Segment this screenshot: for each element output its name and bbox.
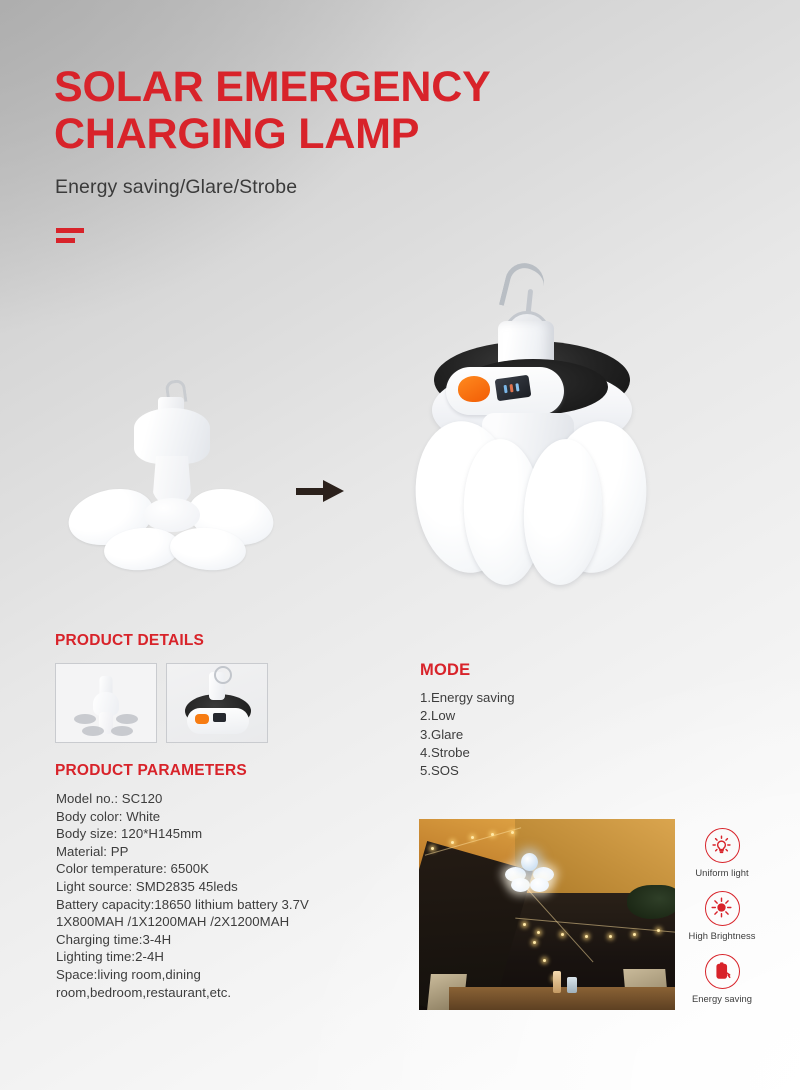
sun-brightness-icon — [705, 891, 740, 926]
feature-energy-saving: Energy saving — [681, 954, 763, 1004]
feature-uniform-light: Uniform light — [681, 828, 763, 878]
arrow-right-icon — [296, 480, 344, 502]
string-light-bulb — [561, 933, 564, 936]
accent-bar-bottom — [56, 238, 75, 243]
foliage — [627, 885, 675, 919]
string-light-bulb — [511, 831, 514, 834]
string-light-bulb — [609, 935, 612, 938]
parameter-line: Space:living room,dining — [56, 966, 396, 984]
scene-lamp-bulb — [521, 853, 538, 871]
parameter-line: Model no.: SC120 — [56, 790, 396, 808]
title-line-2: CHARGING LAMP — [54, 111, 614, 158]
lamp-in-scene — [505, 853, 553, 895]
string-light-bulb — [657, 929, 660, 932]
parameter-line: 1X800MAH /1X1200MAH /2X1200MAH — [56, 913, 396, 931]
detail-thumbnail[interactable] — [55, 663, 157, 743]
page-subtitle: Energy saving/Glare/Strobe — [55, 176, 297, 199]
string-light-bulb — [537, 931, 540, 934]
thumb-petal — [116, 714, 138, 724]
scene-lamp-petal — [511, 878, 530, 892]
arrow-head — [323, 480, 344, 502]
display-screen — [495, 375, 532, 402]
thumb-petal — [74, 714, 96, 724]
mode-item: 2.Low — [420, 707, 515, 725]
lamp-body — [134, 408, 210, 464]
parameter-line: room,bedroom,restaurant,etc. — [56, 984, 396, 1002]
arrow-shaft — [296, 488, 326, 495]
cup — [567, 977, 577, 993]
page-title: SOLAR EMERGENCY CHARGING LAMP — [54, 64, 614, 158]
string-light-bulb — [431, 847, 434, 850]
mode-item: 4.Strobe — [420, 744, 515, 762]
parameter-line: Lighting time:2-4H — [56, 948, 396, 966]
mode-list: 1.Energy saving 2.Low 3.Glare 4.Strobe 5… — [420, 689, 515, 780]
battery-charge-icon — [705, 954, 740, 989]
product-parameters-list: Model no.: SC120 Body color: White Body … — [56, 790, 396, 1001]
thumb-hook-icon — [214, 666, 232, 684]
parameter-line: Color temperature: 6500K — [56, 860, 396, 878]
accent-bar-top — [56, 228, 84, 233]
product-page: SOLAR EMERGENCY CHARGING LAMP Energy sav… — [0, 0, 800, 1090]
parameter-line: Light source: SMD2835 45leds — [56, 878, 396, 896]
parameter-line: Charging time:3-4H — [56, 931, 396, 949]
mode-item: 5.SOS — [420, 762, 515, 780]
string-light-bulb — [543, 959, 546, 962]
mode-heading: MODE — [420, 661, 470, 680]
light-bulb-icon — [705, 828, 740, 863]
lamp-hub — [144, 498, 200, 532]
detail-thumbnail[interactable] — [166, 663, 268, 743]
thumb-petal — [82, 726, 104, 736]
title-line-1: SOLAR EMERGENCY — [54, 63, 491, 111]
string-light-bulb — [585, 935, 588, 938]
orange-button — [458, 376, 490, 402]
string-light-bulb — [451, 841, 454, 844]
string-light-bulb — [633, 933, 636, 936]
table — [449, 987, 675, 1010]
hanging-hook-icon — [499, 259, 548, 314]
string-light-bulb — [523, 923, 526, 926]
thumb-display-screen — [213, 713, 226, 722]
parameter-line: Body color: White — [56, 808, 396, 826]
thumb-petal — [111, 726, 133, 736]
bottle — [553, 971, 561, 993]
feature-icon-list: Uniform light High Brightness Energy sav… — [681, 828, 763, 1017]
product-details-heading: PRODUCT DETAILS — [55, 632, 204, 650]
parameter-line: Battery capacity:18650 lithium battery 3… — [56, 896, 396, 914]
lifestyle-photo — [419, 819, 675, 1010]
accent-divider — [56, 228, 96, 243]
string-light-bulb — [471, 836, 474, 839]
feature-label: Energy saving — [681, 993, 763, 1004]
feature-high-brightness: High Brightness — [681, 891, 763, 941]
parameter-line: Material: PP — [56, 843, 396, 861]
product-parameters-heading: PRODUCT PARAMETERS — [55, 762, 247, 780]
feature-label: High Brightness — [681, 930, 763, 941]
string-light-bulb — [491, 833, 494, 836]
folded-lamp-image — [398, 263, 666, 593]
scene-lamp-petal — [530, 878, 549, 892]
mode-item: 3.Glare — [420, 726, 515, 744]
product-details-thumbnails — [55, 663, 268, 743]
string-light-bulb — [533, 941, 536, 944]
hero-section — [0, 255, 800, 605]
parameter-line: Body size: 120*H145mm — [56, 825, 396, 843]
mode-item: 1.Energy saving — [420, 689, 515, 707]
feature-label: Uniform light — [681, 867, 763, 878]
unfolded-lamp-image — [60, 380, 280, 565]
thumb-orange-button — [195, 714, 209, 724]
